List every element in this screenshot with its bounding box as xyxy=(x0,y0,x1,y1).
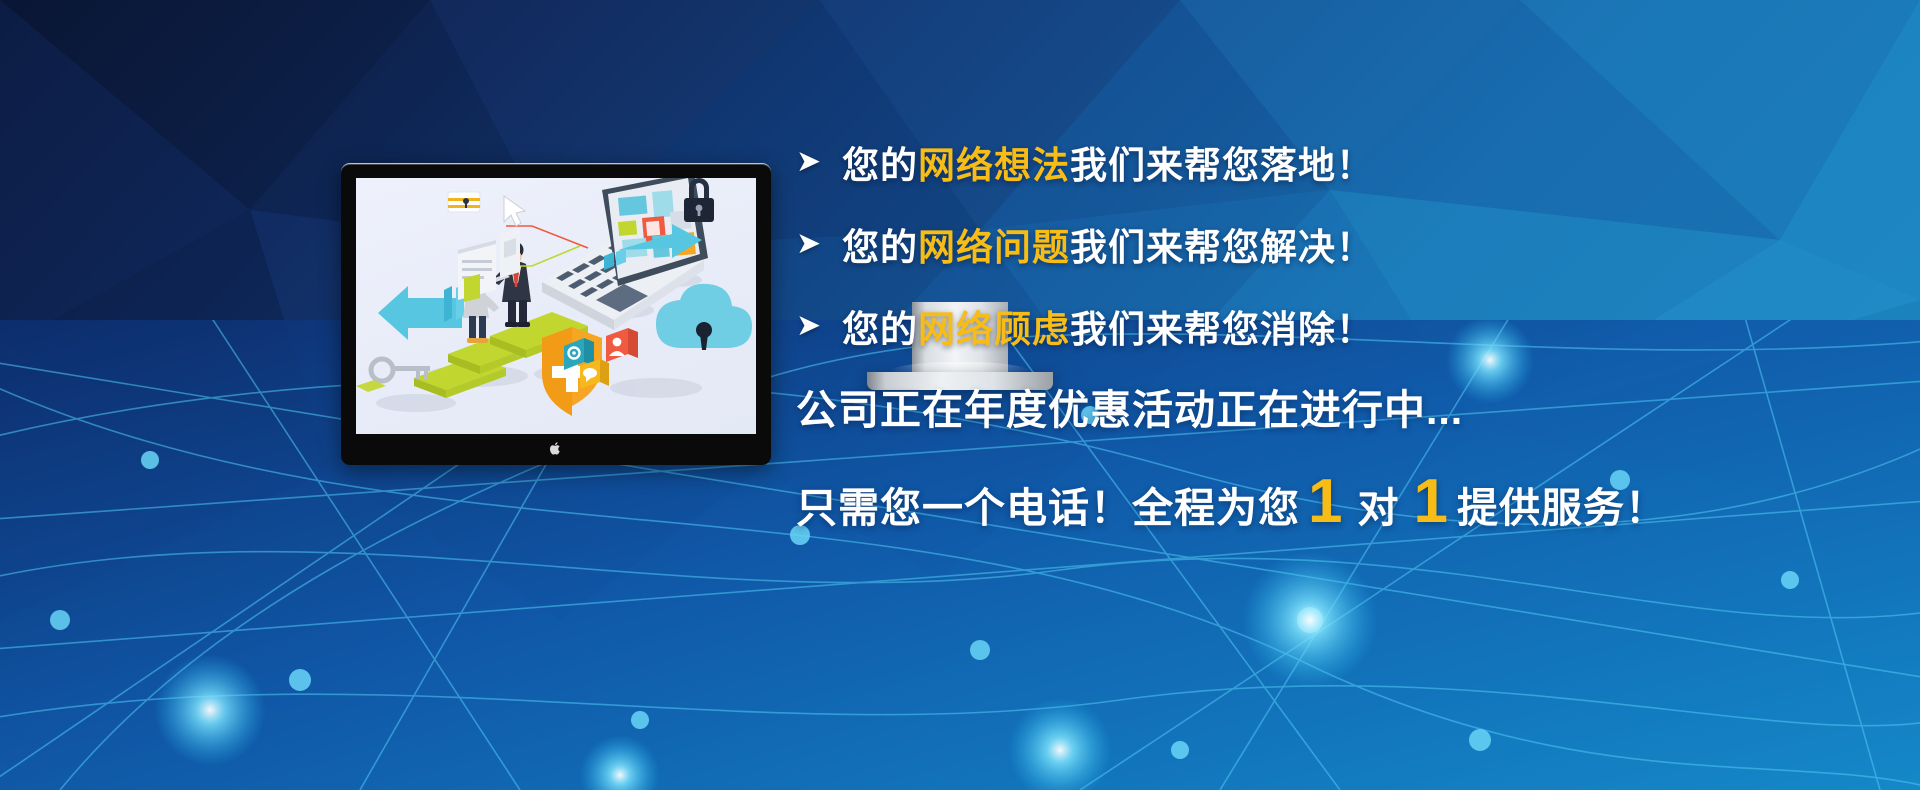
bullet-text-2: 您的网络问题我们来帮您解决！ xyxy=(842,217,1374,271)
cta-number-first: 1 xyxy=(1300,474,1351,530)
bullet-line-3: ➤ 您的网络顾虑我们来帮您消除！ xyxy=(796,294,1796,358)
isometric-illustration xyxy=(356,178,756,434)
imac-monitor xyxy=(341,163,771,465)
monitor-screen xyxy=(356,178,756,434)
bullet-2-prefix: 您的 xyxy=(842,227,918,268)
bullet-line-1: ➤ 您的网络想法我们来帮您落地！ xyxy=(796,130,1796,194)
arrow-bullet-icon: ➤ xyxy=(796,147,842,177)
promo-line: 公司正在年度优惠活动正在进行中... xyxy=(796,376,1796,436)
bullet-1-prefix: 您的 xyxy=(842,145,918,186)
cta-line: 只需您一个电话！全程为您 1 对 1 提供服务！ xyxy=(796,474,1796,534)
arrow-bullet-icon: ➤ xyxy=(796,311,842,341)
cta-lead-text: 只需您一个电话！全程为您 xyxy=(796,474,1300,534)
cta-number-second: 1 xyxy=(1405,474,1456,530)
bullet-3-prefix: 您的 xyxy=(842,309,918,350)
bullet-3-highlight: 网络顾虑 xyxy=(918,309,1070,350)
arrow-bullet-icon: ➤ xyxy=(796,229,842,259)
apple-logo-icon xyxy=(550,441,563,456)
bullet-2-suffix: 我们来帮您解决！ xyxy=(1070,227,1374,268)
cta-tail-text: 提供服务！ xyxy=(1457,474,1667,534)
document-card xyxy=(458,240,496,302)
bullet-text-1: 您的网络想法我们来帮您落地！ xyxy=(842,135,1374,189)
arrow-left-icon xyxy=(378,284,464,340)
cloud-keyhole-icon xyxy=(656,284,752,350)
bullet-1-suffix: 我们来帮您落地！ xyxy=(1070,145,1374,186)
banner-copy: ➤ 您的网络想法我们来帮您落地！ ➤ 您的网络问题我们来帮您解决！ ➤ 您的网络… xyxy=(796,130,1796,534)
cursor-pointer-icon xyxy=(504,196,525,226)
bullet-line-2: ➤ 您的网络问题我们来帮您解决！ xyxy=(796,212,1796,276)
bullet-text-3: 您的网络顾虑我们来帮您消除！ xyxy=(842,299,1374,353)
key-card-icon xyxy=(448,192,480,212)
bullet-2-highlight: 网络问题 xyxy=(918,227,1070,268)
hero-banner: ➤ 您的网络想法我们来帮您落地！ ➤ 您的网络问题我们来帮您解决！ ➤ 您的网络… xyxy=(0,0,1920,790)
bullet-3-suffix: 我们来帮您消除！ xyxy=(1070,309,1374,350)
user-app-tile xyxy=(606,328,638,362)
cta-mid-text: 对 xyxy=(1351,474,1405,534)
small-card xyxy=(500,228,520,278)
bullet-1-highlight: 网络想法 xyxy=(918,145,1070,186)
